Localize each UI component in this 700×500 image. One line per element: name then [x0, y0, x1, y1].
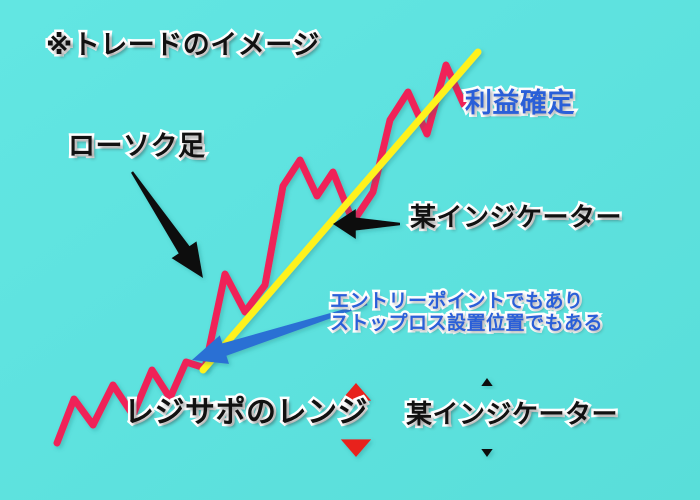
indicator-top-label: 某インジケーター — [410, 203, 622, 234]
entry-stoploss-label: エントリーポイントでもあり ストップロス設置位置でもある — [330, 290, 603, 335]
range-extent-head-down — [341, 439, 371, 457]
illustration-canvas: ※トレードのイメージ ローソク足 利益確定 某インジケーター エントリーポイント… — [0, 0, 700, 500]
candlestick-pointer — [131, 171, 203, 278]
entry-label-line-1: エントリーポイントでもあり — [330, 290, 603, 312]
entry-label-line-2: ストップロス設置位置でもある — [330, 312, 603, 334]
price-zigzag — [57, 65, 464, 443]
candlestick-label: ローソク足 — [68, 131, 206, 163]
indicator-pointer — [333, 209, 400, 239]
range-label: レジサポのレンジ — [124, 395, 368, 430]
indicator-extent-head-up — [481, 378, 492, 386]
price-and-indicator-lines — [57, 52, 478, 443]
indicator-bottom-label: 某インジケーター — [406, 400, 618, 431]
take-profit-label: 利益確定 — [465, 88, 575, 120]
title-label: ※トレードのイメージ — [46, 30, 320, 62]
